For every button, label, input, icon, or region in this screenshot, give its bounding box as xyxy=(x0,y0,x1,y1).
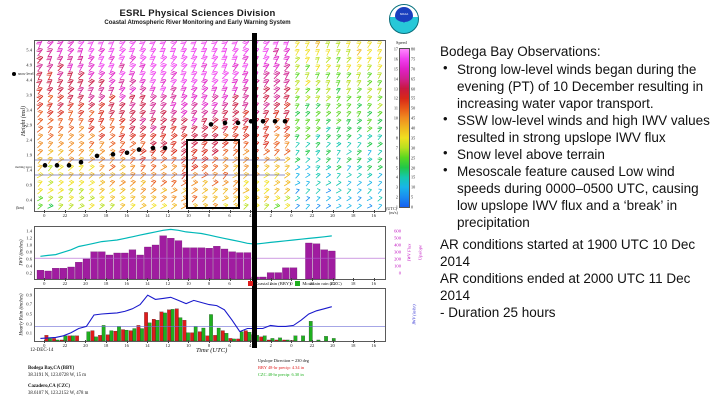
wind-barb-icon xyxy=(117,62,124,71)
iwv-bar xyxy=(114,253,121,279)
wind-barb-icon xyxy=(97,140,104,148)
wind-barb-icon xyxy=(314,188,320,194)
wind-barb-icon xyxy=(240,78,248,87)
wind-barb-icon xyxy=(376,141,383,147)
wind-barb-icon xyxy=(189,116,197,125)
wind-barb-icon xyxy=(282,140,289,148)
wind-barb-icon xyxy=(128,202,135,209)
noaa-logo-text: NOAA xyxy=(390,12,418,16)
colorbar-tick-right: 80 xyxy=(411,47,415,52)
x-axis-tick-label: 0 xyxy=(43,213,45,218)
wind-barb-icon xyxy=(282,179,290,186)
wind-barb-icon xyxy=(128,187,136,194)
wind-barb-icon xyxy=(35,117,43,125)
wind-barb-icon xyxy=(117,54,125,64)
wind-barb-icon xyxy=(138,155,146,163)
wind-barb-icon xyxy=(107,140,115,147)
wind-barb-icon xyxy=(354,48,361,56)
wind-barb-icon xyxy=(304,203,310,209)
wind-barb-icon xyxy=(168,101,176,111)
wind-barb-icon xyxy=(168,77,177,87)
wind-barb-icon xyxy=(209,77,218,86)
mountain-rain-bar xyxy=(317,340,320,341)
noaa-logo-icon: NOAA xyxy=(389,4,419,34)
y-axis-tick-label: 600 xyxy=(387,229,401,234)
wind-barb-icon xyxy=(96,70,105,79)
wind-barb-icon xyxy=(261,62,269,72)
wind-barb-icon xyxy=(376,157,382,163)
wind-barb-icon xyxy=(127,47,134,57)
wind-barb-icon xyxy=(314,87,321,94)
wind-barb-icon xyxy=(355,41,361,48)
wind-barb-icon xyxy=(66,195,73,202)
wind-barb-icon xyxy=(35,94,43,102)
wind-barb-icon xyxy=(107,132,115,139)
wind-barb-icon xyxy=(178,47,186,57)
wind-barb-icon xyxy=(240,41,249,48)
wind-barb-icon xyxy=(117,148,125,156)
wind-barb-icon xyxy=(148,101,156,110)
wind-barb-icon xyxy=(169,140,177,149)
wind-barb-icon xyxy=(314,195,320,201)
wind-barb-icon xyxy=(87,148,94,156)
wind-barb-icon xyxy=(138,163,145,171)
snow-level-dot xyxy=(111,152,116,157)
wind-barb-icon xyxy=(127,41,136,48)
iwv-plot xyxy=(35,227,385,279)
wind-barb-icon xyxy=(117,41,126,48)
wind-barb-icon xyxy=(128,156,136,164)
wind-barb-icon xyxy=(56,187,64,194)
wind-barb-icon xyxy=(159,194,167,201)
wind-barb-icon xyxy=(365,94,372,101)
wind-barb-icon xyxy=(76,148,84,156)
wind-barb-icon xyxy=(283,195,290,201)
mountain-rain-bar xyxy=(278,338,281,341)
y-axis-tick-label: 0.9 xyxy=(18,183,32,188)
wind-barb-icon xyxy=(137,116,145,125)
wind-barb-icon xyxy=(334,64,340,71)
wind-barb-icon xyxy=(209,62,217,72)
wind-barb-icon xyxy=(271,62,279,71)
wind-barb-icon xyxy=(293,48,299,56)
wind-barb-icon xyxy=(365,56,371,64)
wind-barb-icon xyxy=(366,149,372,155)
y-axis-tick-label: 5.4 xyxy=(18,47,32,52)
colorbar-tick-right: 65 xyxy=(411,76,415,81)
wind-barb-icon xyxy=(169,194,176,202)
wind-barb-icon xyxy=(355,203,361,209)
wind-barb-icon xyxy=(293,125,300,132)
iwv-bar xyxy=(313,244,320,279)
coastal-rain-bar xyxy=(213,335,216,341)
wind-barb-icon xyxy=(262,163,270,170)
wind-barb-icon xyxy=(334,56,340,63)
wind-barb-icon xyxy=(189,70,197,80)
wind-barb-icon xyxy=(86,117,93,126)
wind-barb-icon xyxy=(334,79,340,86)
wind-barb-icon xyxy=(128,179,136,187)
wind-barb-icon xyxy=(303,149,309,156)
iwv-bar xyxy=(144,247,151,279)
mountain-rain-bar xyxy=(117,326,120,341)
wind-barb-icon xyxy=(376,195,382,201)
wind-barb-icon xyxy=(45,101,52,110)
iwv-bar xyxy=(83,259,90,279)
iwv-panel xyxy=(34,226,386,280)
wind-barb-icon xyxy=(97,195,104,202)
wind-barb-icon xyxy=(148,156,156,164)
colorbar-tick-right: 0 xyxy=(411,205,413,210)
wind-barb-icon xyxy=(169,163,177,171)
coastal-rain-bar xyxy=(121,330,124,341)
snow-level-key: snow level xyxy=(12,72,33,76)
wind-barb-icon xyxy=(314,102,321,109)
wind-barb-icon xyxy=(230,78,238,87)
iwv-bar xyxy=(106,255,113,279)
wind-barb-icon xyxy=(365,141,372,147)
iwv-bar xyxy=(282,268,289,279)
wind-barb-icon xyxy=(76,101,84,109)
wind-barb-icon xyxy=(179,70,187,80)
wind-barb-icon xyxy=(241,140,249,148)
x-axis-tick-label: 6 xyxy=(228,343,230,348)
iwv-bar xyxy=(321,250,328,279)
wind-barb-icon xyxy=(87,187,94,194)
wind-barb-icon xyxy=(148,41,156,49)
wind-barb-icon xyxy=(314,110,321,117)
wind-barb-icon xyxy=(35,140,43,148)
wind-barb-icon xyxy=(118,195,126,201)
slide-root: ESRL Physical Sciences Division Coastal … xyxy=(0,0,720,405)
mountain-rain-bar xyxy=(225,333,228,341)
mountain-rain-bar xyxy=(163,313,166,341)
wind-barb-icon xyxy=(293,71,299,78)
wind-barb-icon xyxy=(220,47,227,57)
wind-barb-icon xyxy=(169,179,177,187)
mountain-rain-bar xyxy=(148,323,151,341)
wind-barb-icon xyxy=(272,156,280,163)
wind-barb-icon xyxy=(375,48,381,56)
wind-barb-icon xyxy=(345,157,352,163)
wind-barb-icon xyxy=(189,101,198,110)
wind-barb-icon xyxy=(86,41,94,49)
x-axis-tick-label: 22 xyxy=(63,213,68,218)
wind-barb-icon xyxy=(355,180,361,186)
wind-barb-icon xyxy=(158,41,166,49)
x-axis-tick-label: 16 xyxy=(371,281,376,286)
wind-barb-icon xyxy=(107,109,115,118)
wind-barb-icon xyxy=(46,179,53,185)
wind-barb-icon xyxy=(76,70,85,78)
wind-barb-icon xyxy=(241,132,249,140)
coastal-rain-bar xyxy=(282,340,285,341)
wind-barb-icon xyxy=(240,93,248,102)
wind-barb-icon xyxy=(220,93,228,102)
mountain-rain-bar xyxy=(209,314,212,341)
wind-barb-icon xyxy=(220,62,227,72)
wind-barb-icon xyxy=(127,124,135,133)
wind-barb-icon xyxy=(168,85,176,94)
wind-barb-icon xyxy=(116,46,125,55)
coastal-rain-bar xyxy=(190,333,193,341)
wind-barb-icon xyxy=(294,203,300,209)
x-axis-tick-label: 22 xyxy=(310,343,315,348)
wind-barb-icon xyxy=(282,156,290,163)
wind-barb-icon xyxy=(366,157,373,163)
wind-barb-icon xyxy=(77,187,84,194)
wind-barb-icon xyxy=(117,132,125,141)
wind-barb-icon xyxy=(44,41,53,48)
legend-item-mountain: Mountain rain (CZC) xyxy=(295,281,341,286)
coastal-rain-bar xyxy=(183,320,186,341)
wind-barb-icon xyxy=(240,70,248,79)
x-axis-tick-label: 10 xyxy=(186,343,191,348)
wind-barb-icon xyxy=(261,109,268,118)
wind-barb-icon xyxy=(45,109,53,117)
wind-barb-icon xyxy=(324,63,331,70)
wind-barb-icon xyxy=(230,41,237,49)
wind-barb-icon xyxy=(272,140,280,148)
wind-barb-icon xyxy=(262,179,269,186)
wind-barb-icon xyxy=(97,187,105,194)
y-axis-tick-label: 100 xyxy=(387,263,401,268)
wind-barb-icon xyxy=(293,110,300,116)
wind-barb-icon xyxy=(56,179,64,186)
wind-barb-icon xyxy=(262,195,269,203)
current-time-bar xyxy=(252,33,257,348)
x-axis-tick-label: 22 xyxy=(310,213,315,218)
wind-barb-icon xyxy=(169,187,177,193)
wind-barb-icon xyxy=(107,55,115,64)
wind-barb-icon xyxy=(137,41,145,49)
wind-barb-icon xyxy=(304,157,310,163)
wind-speed-colorbar: 8017751670156514601355125011451040935830… xyxy=(399,48,410,208)
main-ylabel: Height (msl) xyxy=(21,89,27,153)
wind-barb-icon xyxy=(334,71,340,78)
observation-bullet: Snow level above terrain xyxy=(440,146,712,163)
wind-barb-icon xyxy=(169,202,177,209)
wind-barb-icon xyxy=(345,188,351,194)
colorbar-tick-right: 50 xyxy=(411,106,415,111)
y-axis-tick-label: 200 xyxy=(387,256,401,261)
wind-barb-icon xyxy=(220,124,228,133)
wind-barb-icon xyxy=(335,149,341,156)
coastal-rain-bar xyxy=(221,331,224,341)
wind-barb-icon xyxy=(189,93,197,102)
wind-barb-icon xyxy=(365,118,371,125)
wind-barb-icon xyxy=(262,156,270,163)
wind-barb-icon xyxy=(313,41,319,48)
wind-barb-icon xyxy=(199,54,207,64)
wind-barb-icon xyxy=(261,125,268,134)
wind-barb-icon xyxy=(55,101,63,109)
wind-barb-icon xyxy=(86,109,94,117)
wind-barb-icon xyxy=(365,63,372,70)
wind-barb-icon xyxy=(261,140,268,149)
wind-barb-icon xyxy=(293,79,300,86)
colorbar-bottom-unit: (m/s) xyxy=(389,210,398,215)
wind-barb-icon xyxy=(293,95,299,102)
wind-barb-icon xyxy=(66,125,74,133)
wind-barb-icon xyxy=(169,132,178,140)
mountain-rain-bar xyxy=(156,320,159,341)
wind-barb-icon xyxy=(271,47,278,56)
wind-barb-icon xyxy=(271,101,279,109)
colorbar-tick-right: 5 xyxy=(411,195,413,200)
wind-barb-icon xyxy=(303,79,310,86)
wind-barb-icon xyxy=(55,94,63,102)
wind-barb-icon xyxy=(314,95,320,102)
wind-barb-icon xyxy=(118,202,125,209)
wind-barb-icon xyxy=(365,48,372,56)
wind-barb-icon xyxy=(293,102,299,109)
wind-barb-icon xyxy=(303,71,309,78)
y-axis-tick-label: 400 xyxy=(387,243,401,248)
wind-barb-icon xyxy=(209,109,217,118)
wind-barb-icon xyxy=(35,86,42,94)
wind-barb-icon xyxy=(355,110,361,117)
wind-barb-icon xyxy=(345,118,351,125)
wind-barb-icon xyxy=(282,93,290,102)
wind-barb-icon xyxy=(96,62,104,72)
wind-barb-icon xyxy=(355,72,361,79)
wind-barb-icon xyxy=(199,101,208,110)
wind-barb-icon xyxy=(345,126,352,132)
wind-barb-icon xyxy=(127,85,136,94)
wind-barb-icon xyxy=(178,109,187,118)
wind-barb-icon xyxy=(210,86,217,96)
coastal-rain-bar xyxy=(75,336,78,341)
wind-barb-icon xyxy=(127,101,135,110)
colorbar-tick-right: 10 xyxy=(411,185,415,190)
wind-barb-icon xyxy=(65,86,74,94)
wind-barb-icon xyxy=(108,187,116,193)
ar-condition-line: - Duration 25 hours xyxy=(440,304,712,321)
wind-barb-icon xyxy=(66,148,74,156)
x-axis-tick-label: 10 xyxy=(186,281,191,286)
wind-barb-icon xyxy=(96,101,104,109)
iwv-bar xyxy=(121,253,128,279)
wind-barb-icon xyxy=(314,56,319,63)
wind-barb-icon xyxy=(55,62,63,71)
wind-barb-icon xyxy=(282,187,290,194)
snow-level-dot xyxy=(43,163,48,168)
iwv-bar xyxy=(221,249,228,279)
wind-barb-icon xyxy=(230,109,239,117)
wind-barb-icon xyxy=(334,118,341,124)
wind-barb-icon xyxy=(345,79,351,86)
wind-barb-icon xyxy=(293,149,299,155)
wind-barb-icon xyxy=(169,148,177,156)
y-axis-tick-label: 0.4 xyxy=(18,198,32,203)
coastal-rain-bar xyxy=(236,339,239,341)
main-y-unit: (km) xyxy=(16,205,24,210)
wind-barb-icon xyxy=(137,54,146,63)
snow-level-dot xyxy=(261,119,266,124)
wind-barb-icon xyxy=(345,41,351,48)
wind-barb-icon xyxy=(87,202,95,209)
wind-barb-icon xyxy=(128,163,135,171)
rain-legend: Coastal rain (BBY) Mountain rain (CZC) xyxy=(248,281,342,286)
wind-barb-icon xyxy=(261,132,268,141)
wind-barb-icon xyxy=(293,118,299,125)
wind-barb-icon xyxy=(127,109,135,118)
wind-barb-icon xyxy=(365,41,372,48)
wind-barb-icon xyxy=(168,93,176,102)
wind-barb-icon xyxy=(314,141,320,148)
mountain-rain-swatch-icon xyxy=(295,281,300,286)
wind-barb-icon xyxy=(376,188,382,194)
iwv-bar xyxy=(129,250,136,279)
wind-barb-icon xyxy=(334,48,340,55)
wind-barb-icon xyxy=(230,70,239,79)
wind-barb-icon xyxy=(45,71,52,80)
wind-barb-icon xyxy=(345,164,351,170)
wind-barb-icon xyxy=(138,124,147,132)
wind-barb-icon xyxy=(376,118,383,124)
colorbar-tick-left: 8 xyxy=(396,135,398,140)
wind-barb-icon xyxy=(55,55,63,64)
figure-title: ESRL Physical Sciences Division xyxy=(0,8,395,19)
czc-precip: CZC 48-hr precip: 6.30 in xyxy=(258,371,309,378)
colorbar-tick-left: 1 xyxy=(396,205,398,210)
x-axis-tick-label: 10 xyxy=(186,213,191,218)
colorbar-tick-right: 75 xyxy=(411,56,415,61)
snow-level-dot xyxy=(125,150,130,155)
wind-barb-icon xyxy=(149,202,157,208)
wind-barb-icon xyxy=(345,180,351,186)
wind-barb-icon xyxy=(365,102,371,109)
wind-barb-icon xyxy=(138,202,146,208)
wind-barb-icon xyxy=(334,95,340,102)
iwv-bar xyxy=(213,246,220,279)
wind-barb-icon xyxy=(117,125,124,134)
wind-barb-icon xyxy=(35,41,42,49)
wind-barb-icon xyxy=(220,41,228,49)
mountain-rain-bar xyxy=(301,336,304,341)
snow-level-dot xyxy=(209,122,214,127)
coastal-rain-swatch-icon xyxy=(248,281,253,286)
wind-barb-icon xyxy=(76,164,83,172)
wind-barb-icon xyxy=(272,125,280,132)
wind-barb-icon xyxy=(241,109,249,117)
wind-barb-icon xyxy=(241,179,248,186)
coastal-rain-bar xyxy=(137,325,140,341)
coastal-rain-bar xyxy=(98,335,101,341)
wind-barb-icon xyxy=(324,56,331,63)
wind-barb-icon xyxy=(65,41,74,48)
iwv-bar xyxy=(198,248,205,279)
wind-barb-icon xyxy=(366,196,372,201)
wind-barb-icon xyxy=(107,163,115,170)
wind-barb-icon xyxy=(303,133,310,139)
iwv-bar xyxy=(37,270,44,279)
colorbar-tick-left: 7 xyxy=(396,145,398,150)
rain-panel xyxy=(34,288,386,342)
x-axis-tick-label: 18 xyxy=(104,343,109,348)
wind-barb-icon xyxy=(344,63,350,71)
wind-barb-icon xyxy=(35,78,42,87)
wind-barb-icon xyxy=(282,41,289,49)
wind-barb-icon xyxy=(76,93,84,102)
wind-barb-icon xyxy=(107,117,114,125)
wind-barb-icon xyxy=(376,149,382,155)
wind-barb-icon xyxy=(230,125,238,133)
wind-barb-icon xyxy=(189,62,197,72)
iwv-bar xyxy=(167,238,174,279)
wind-barb-icon xyxy=(107,195,115,202)
